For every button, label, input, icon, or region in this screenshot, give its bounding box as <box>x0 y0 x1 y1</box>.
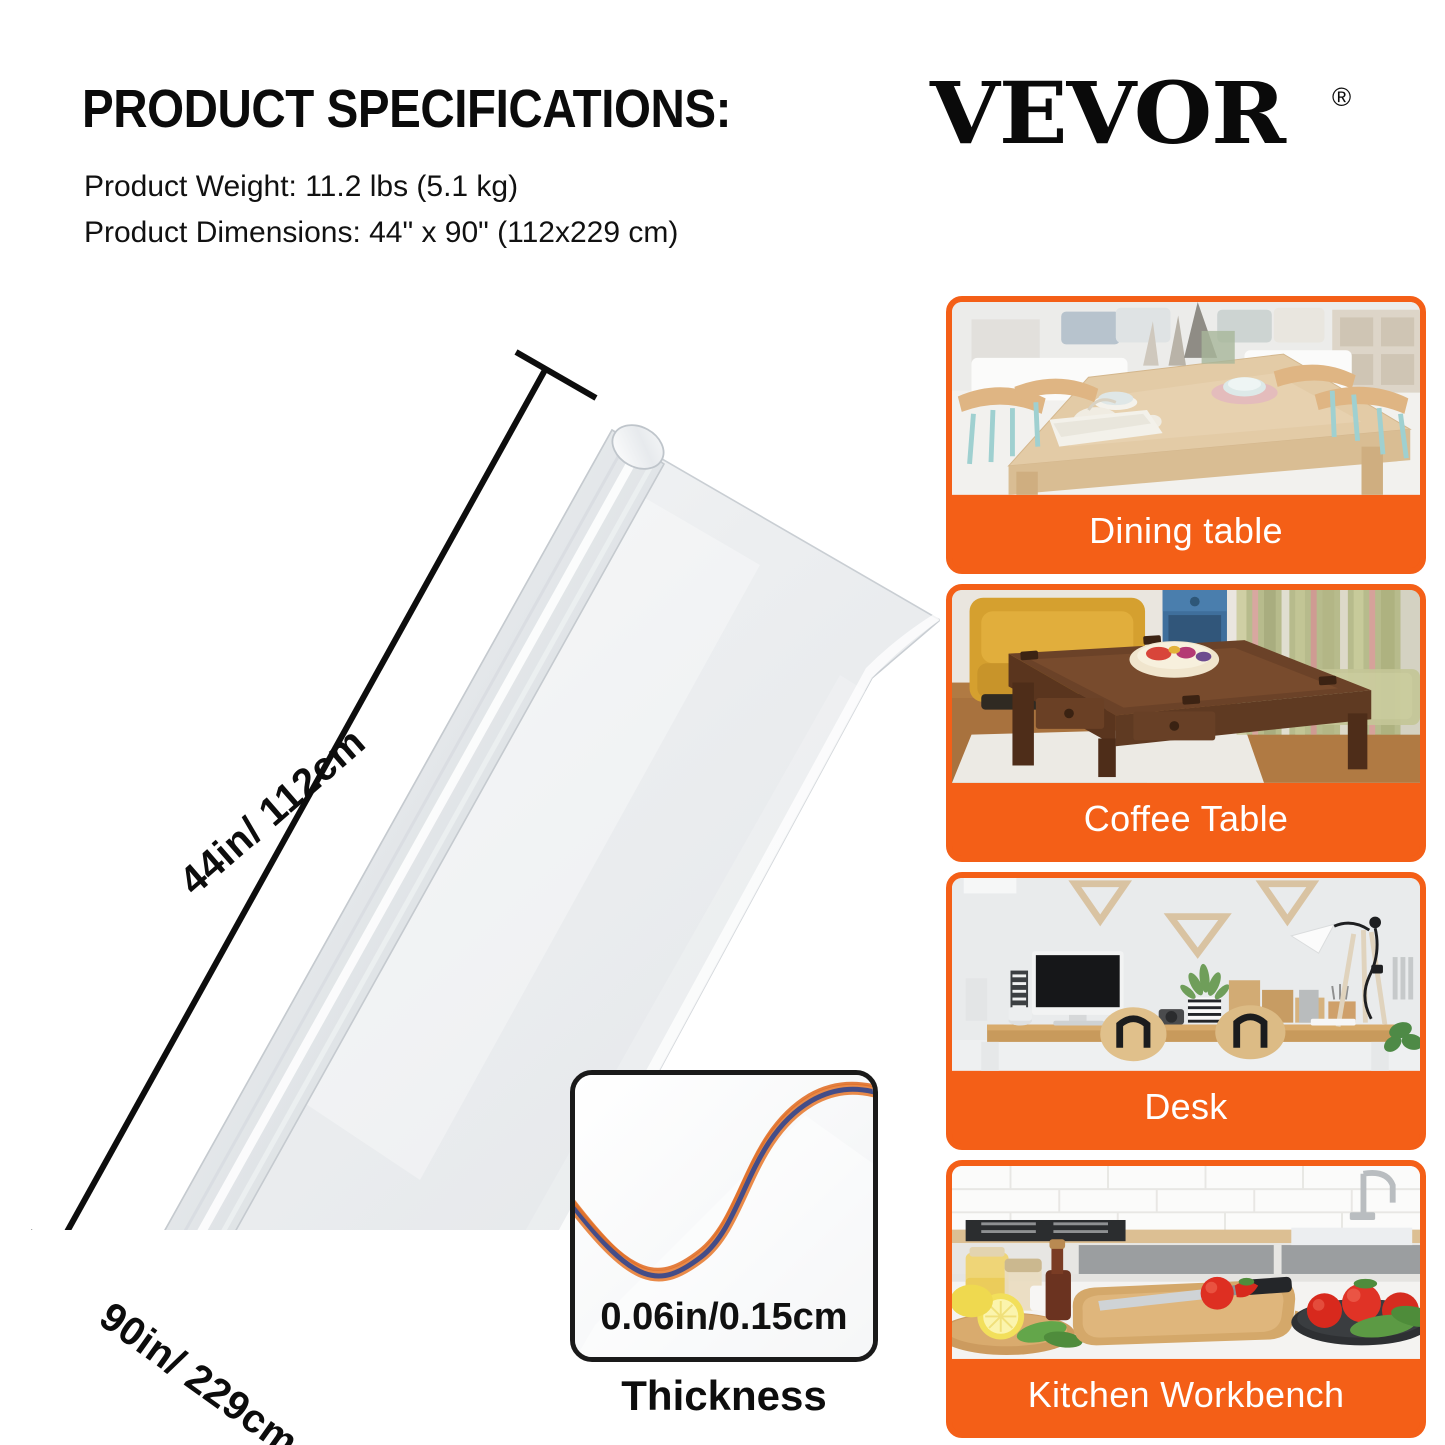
product-specification-infographic: PRODUCT SPECIFICATIONS: Product Weight: … <box>0 0 1445 1445</box>
kitchen-workbench-photo <box>952 1166 1420 1359</box>
thickness-caption: Thickness <box>570 1372 878 1420</box>
use-case-label-kitchen-workbench: Kitchen Workbench <box>952 1359 1420 1432</box>
brand-name: VEVOR <box>930 68 1285 160</box>
thickness-callout: 0.06in/0.15cm <box>570 1070 878 1362</box>
use-case-label-coffee-table: Coffee Table <box>952 783 1420 856</box>
use-case-card-desk[interactable]: Desk <box>946 872 1426 1150</box>
use-case-card-dining-table[interactable]: Dining table <box>946 296 1426 574</box>
coffee-table-photo <box>952 590 1420 783</box>
registered-trademark-icon: ® <box>1332 82 1351 113</box>
spec-product-dimensions: Product Dimensions: 44" x 90" (112x229 c… <box>84 216 678 250</box>
use-case-card-kitchen-workbench[interactable]: Kitchen Workbench <box>946 1160 1426 1438</box>
thickness-value: 0.06in/0.15cm <box>575 1296 873 1339</box>
use-case-card-list: Dining table <box>946 296 1426 1445</box>
use-case-card-coffee-table[interactable]: Coffee Table <box>946 584 1426 862</box>
page-title: PRODUCT SPECIFICATIONS: <box>82 78 731 140</box>
use-case-label-desk: Desk <box>952 1071 1420 1144</box>
brand-logo: VEVOR ® <box>930 68 1350 172</box>
dining-table-photo <box>952 302 1420 495</box>
use-case-label-dining-table: Dining table <box>952 495 1420 568</box>
desk-photo <box>952 878 1420 1071</box>
spec-product-weight: Product Weight: 11.2 lbs (5.1 kg) <box>84 170 518 204</box>
dimension-label-length: 90in/ 229cm <box>91 1294 306 1445</box>
